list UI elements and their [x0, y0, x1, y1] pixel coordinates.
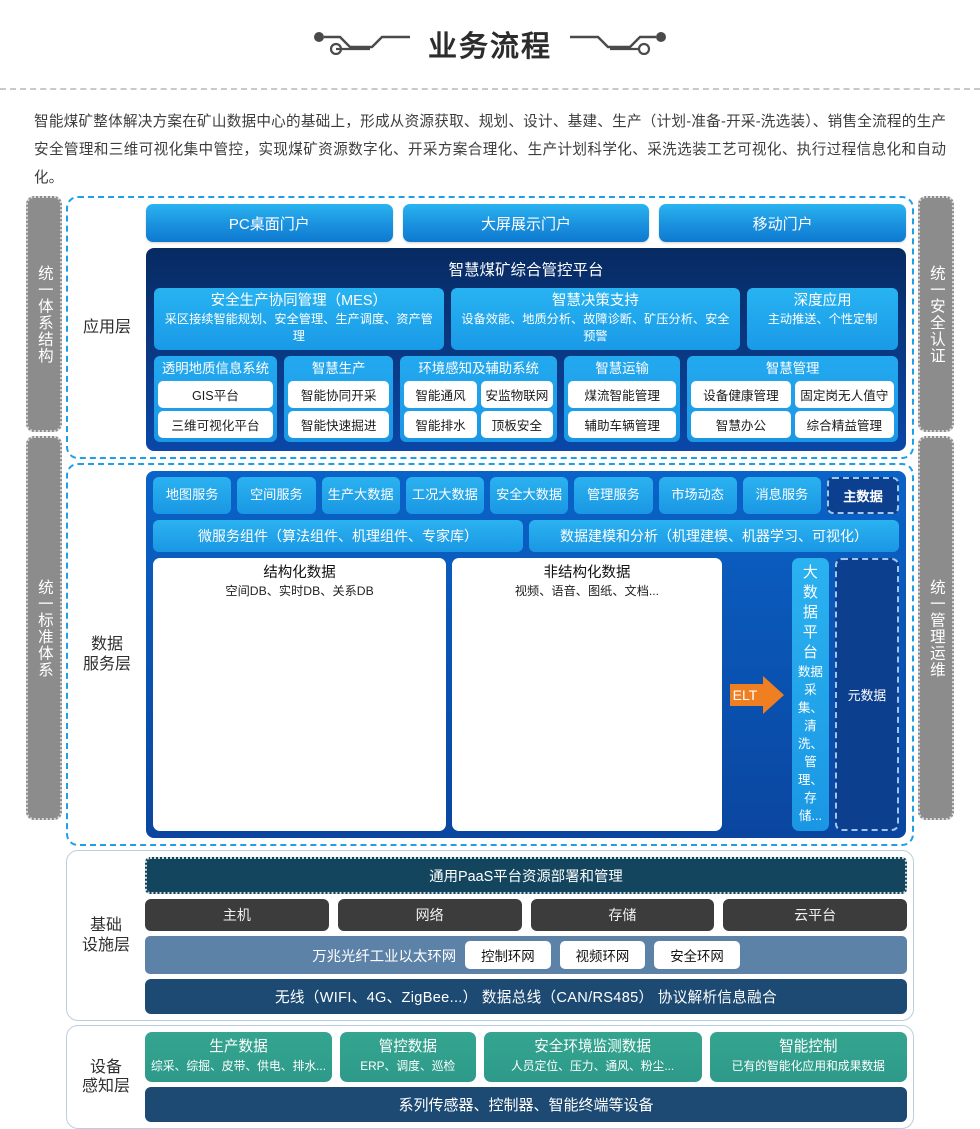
group-geology-title: 透明地质信息系统	[158, 359, 273, 381]
side-band-unified-architecture: 统一体系结构	[26, 196, 62, 432]
middleware-row: 微服务组件（算法组件、机理组件、专家库） 数据建模和分析（机理建模、机器学习、可…	[153, 520, 899, 552]
page-header: 业务流程	[0, 0, 980, 90]
layer-data-service: 数据 服务层 地图服务 空间服务 生产大数据 工况大数据 安全大数据 管理服务 …	[66, 463, 914, 846]
chip-3d-visual-platform[interactable]: 三维可视化平台	[158, 411, 273, 438]
data-modeling-analysis[interactable]: 数据建模和分析（机理建模、机器学习、可视化）	[529, 520, 899, 552]
group-smart-transport: 智慧运输 煤流智能管理 辅助车辆管理	[564, 356, 680, 442]
chip-collaborative-mining[interactable]: 智能协同开采	[288, 381, 389, 408]
layer-infrastructure: 基础 设施层 通用PaaS平台资源部署和管理 主机 网络 存储 云平台 万兆光纤…	[66, 850, 914, 1021]
layer-label-infrastructure: 基础 设施层	[67, 916, 145, 954]
chip-rapid-tunneling[interactable]: 智能快速掘进	[288, 411, 389, 438]
left-side-column: 统一体系结构 统一标准体系	[26, 196, 62, 820]
layer-label-data-service: 数据 服务层	[68, 635, 146, 673]
ethernet-ring-bar: 万兆光纤工业以太环网 控制环网 视频环网 安全环网	[145, 936, 907, 974]
app-mes-block[interactable]: 安全生产协同管理（MES） 采区接续智能规划、安全管理、生产调度、资产管理	[154, 288, 444, 350]
chip-lean-management[interactable]: 综合精益管理	[795, 411, 894, 438]
infra-resource-row: 主机 网络 存储 云平台	[145, 899, 907, 931]
group-smart-management: 智慧管理 设备健康管理 固定岗无人值守 智慧办公 综合精益管理	[687, 356, 898, 442]
device-control-sub: ERP、调度、巡检	[346, 1058, 470, 1075]
group-environment-sensing-title: 环境感知及辅助系统	[404, 359, 553, 381]
service-condition-bigdata[interactable]: 工况大数据	[406, 477, 484, 514]
chip-gis-platform[interactable]: GIS平台	[158, 381, 273, 408]
device-safety-sub: 人员定位、压力、通风、粉尘...	[490, 1058, 696, 1075]
ethernet-ring-label: 万兆光纤工业以太环网	[312, 945, 456, 966]
device-smart-control[interactable]: 智能控制 已有的智能化应用和成果数据	[710, 1032, 907, 1082]
app-decision-sub: 设备效能、地质分析、故障诊断、矿压分析、安全预警	[457, 311, 735, 345]
integrated-control-platform: 智慧煤矿综合管控平台 安全生产协同管理（MES） 采区接续智能规划、安全管理、生…	[146, 248, 906, 451]
group-environment-sensing: 环境感知及辅助系统 智能通风 安监物联网 智能排水 顶板安全	[400, 356, 557, 442]
sensor-device-bar[interactable]: 系列传感器、控制器、智能终端等设备	[145, 1087, 907, 1122]
portal-mobile[interactable]: 移动门户	[659, 204, 906, 242]
layer-stack: 应用层 PC桌面门户 大屏展示门户 移动门户 智慧煤矿综合管控平台 安全生产协同…	[66, 196, 914, 820]
unstructured-data-sub: 视频、语音、图纸、文档...	[458, 583, 716, 600]
portal-pc-desktop[interactable]: PC桌面门户	[146, 204, 393, 242]
service-management[interactable]: 管理服务	[574, 477, 652, 514]
app-mes-title: 安全生产协同管理（MES）	[160, 292, 438, 311]
group-smart-transport-title: 智慧运输	[568, 359, 676, 381]
structured-data-sub: 空间DB、实时DB、关系DB	[159, 583, 440, 600]
side-band-unified-standard: 统一标准体系	[26, 436, 62, 820]
elt-arrow-icon: ELT	[728, 558, 786, 831]
layer-label-infrastructure-line2: 设施层	[71, 936, 141, 955]
resource-cloud[interactable]: 云平台	[723, 899, 907, 931]
platform-title: 智慧煤矿综合管控平台	[154, 255, 898, 288]
group-smart-management-title: 智慧管理	[691, 359, 894, 381]
service-message[interactable]: 消息服务	[743, 477, 821, 514]
layer-label-application: 应用层	[68, 318, 146, 337]
service-spatial[interactable]: 空间服务	[237, 477, 315, 514]
service-safety-bigdata[interactable]: 安全大数据	[490, 477, 568, 514]
bigdata-platform-title: 大数据平台	[798, 563, 823, 663]
chip-safety-iot[interactable]: 安监物联网	[481, 381, 553, 408]
resource-host[interactable]: 主机	[145, 899, 329, 931]
side-band-unified-auth: 统一安全认证	[918, 196, 954, 432]
app-deep-sub: 主动推送、个性定制	[753, 311, 892, 328]
layer-label-data-service-line2: 服务层	[72, 655, 142, 674]
structured-data-title: 结构化数据	[159, 563, 440, 583]
chip-unattended-post[interactable]: 固定岗无人值守	[795, 381, 894, 408]
chip-coal-flow-management[interactable]: 煤流智能管理	[568, 381, 676, 408]
page-title: 业务流程	[428, 23, 552, 65]
app-decision-block[interactable]: 智慧决策支持 设备效能、地质分析、故障诊断、矿压分析、安全预警	[451, 288, 741, 350]
ring-chip-control[interactable]: 控制环网	[465, 941, 551, 969]
bigdata-platform-box[interactable]: 大数据平台 数据采集、清洗、管理、存储...	[792, 558, 829, 831]
layer-label-device-line1: 设备	[71, 1058, 141, 1077]
device-safety-monitoring-data[interactable]: 安全环境监测数据 人员定位、压力、通风、粉尘...	[484, 1032, 702, 1082]
structured-data-box[interactable]: 结构化数据 空间DB、实时DB、关系DB	[153, 558, 446, 831]
elt-label: ELT	[732, 687, 757, 703]
chip-auxiliary-vehicle[interactable]: 辅助车辆管理	[568, 411, 676, 438]
device-control-title: 管控数据	[346, 1037, 470, 1058]
layer-label-infrastructure-line1: 基础	[71, 916, 141, 935]
architecture-diagram: 统一体系结构 统一标准体系 应用层 PC桌面门户 大屏展示门户 移动门户 智慧煤…	[26, 196, 954, 820]
resource-storage[interactable]: 存储	[531, 899, 715, 931]
service-market[interactable]: 市场动态	[659, 477, 737, 514]
chip-roof-safety[interactable]: 顶板安全	[481, 411, 553, 438]
right-side-column: 统一安全认证 统一管理运维	[918, 196, 954, 820]
layer-application: 应用层 PC桌面门户 大屏展示门户 移动门户 智慧煤矿综合管控平台 安全生产协同…	[66, 196, 914, 459]
metadata-box[interactable]: 元数据	[835, 558, 899, 831]
layer-label-device-line2: 感知层	[71, 1077, 141, 1096]
device-production-title: 生产数据	[151, 1037, 326, 1058]
device-production-sub: 综采、综掘、皮带、供电、排水...	[151, 1058, 326, 1075]
resource-network[interactable]: 网络	[338, 899, 522, 931]
unstructured-data-title: 非结构化数据	[458, 563, 716, 583]
unstructured-data-box[interactable]: 非结构化数据 视频、语音、图纸、文档...	[452, 558, 722, 831]
group-smart-production: 智慧生产 智能协同开采 智能快速掘进	[284, 356, 393, 442]
app-subsystem-row: 透明地质信息系统 GIS平台 三维可视化平台 智慧生产 智能协同开采 智能快速掘…	[154, 356, 898, 442]
layer-label-data-service-line1: 数据	[72, 635, 142, 654]
chip-smart-ventilation[interactable]: 智能通风	[404, 381, 476, 408]
data-service-panel: 地图服务 空间服务 生产大数据 工况大数据 安全大数据 管理服务 市场动态 消息…	[146, 471, 906, 838]
device-data-row: 生产数据 综采、综掘、皮带、供电、排水... 管控数据 ERP、调度、巡检 安全…	[145, 1032, 907, 1082]
microservice-components[interactable]: 微服务组件（算法组件、机理组件、专家库）	[153, 520, 523, 552]
chip-smart-office[interactable]: 智慧办公	[691, 411, 790, 438]
bigdata-platform-sub: 数据采集、清洗、管理、存储...	[798, 663, 823, 825]
app-deep-title: 深度应用	[753, 292, 892, 311]
device-control-data[interactable]: 管控数据 ERP、调度、巡检	[340, 1032, 476, 1082]
app-decision-title: 智慧决策支持	[457, 292, 735, 311]
ring-chip-video[interactable]: 视频环网	[560, 941, 646, 969]
layer-label-device: 设备 感知层	[67, 1058, 145, 1096]
group-geology: 透明地质信息系统 GIS平台 三维可视化平台	[154, 356, 277, 442]
chip-equipment-health[interactable]: 设备健康管理	[691, 381, 790, 408]
side-band-unified-ops: 统一管理运维	[918, 436, 954, 820]
data-store-row: 结构化数据 空间DB、实时DB、关系DB 非结构化数据 视频、语音、图纸、文档.…	[153, 558, 899, 831]
device-smart-control-sub: 已有的智能化应用和成果数据	[716, 1058, 901, 1075]
ornament-right-icon	[568, 29, 668, 60]
app-deep-block[interactable]: 深度应用 主动推送、个性定制	[747, 288, 898, 350]
service-row: 地图服务 空间服务 生产大数据 工况大数据 安全大数据 管理服务 市场动态 消息…	[153, 477, 899, 514]
app-primary-row: 安全生产协同管理（MES） 采区接续智能规划、安全管理、生产调度、资产管理 智慧…	[154, 288, 898, 350]
chip-smart-drainage[interactable]: 智能排水	[404, 411, 476, 438]
ornament-left-icon	[312, 29, 412, 60]
portal-large-screen[interactable]: 大屏展示门户	[403, 204, 650, 242]
data-bus-bar[interactable]: 无线（WIFI、4G、ZigBee...） 数据总线（CAN/RS485） 协议…	[145, 979, 907, 1014]
group-smart-production-title: 智慧生产	[288, 359, 389, 381]
layer-device-sensing: 设备 感知层 生产数据 综采、综掘、皮带、供电、排水... 管控数据 ERP、调…	[66, 1025, 914, 1129]
service-production-bigdata[interactable]: 生产大数据	[322, 477, 400, 514]
solution-description: 智能煤矿整体解决方案在矿山数据中心的基础上，形成从资源获取、规划、设计、基建、生…	[34, 108, 946, 192]
device-safety-title: 安全环境监测数据	[490, 1037, 696, 1058]
portal-row: PC桌面门户 大屏展示门户 移动门户	[146, 204, 906, 242]
device-smart-control-title: 智能控制	[716, 1037, 901, 1058]
ring-chip-safety[interactable]: 安全环网	[654, 941, 740, 969]
paas-bar[interactable]: 通用PaaS平台资源部署和管理	[145, 857, 907, 894]
app-mes-sub: 采区接续智能规划、安全管理、生产调度、资产管理	[160, 311, 438, 345]
device-production-data[interactable]: 生产数据 综采、综掘、皮带、供电、排水...	[145, 1032, 332, 1082]
service-map[interactable]: 地图服务	[153, 477, 231, 514]
service-master-data[interactable]: 主数据	[827, 477, 899, 514]
